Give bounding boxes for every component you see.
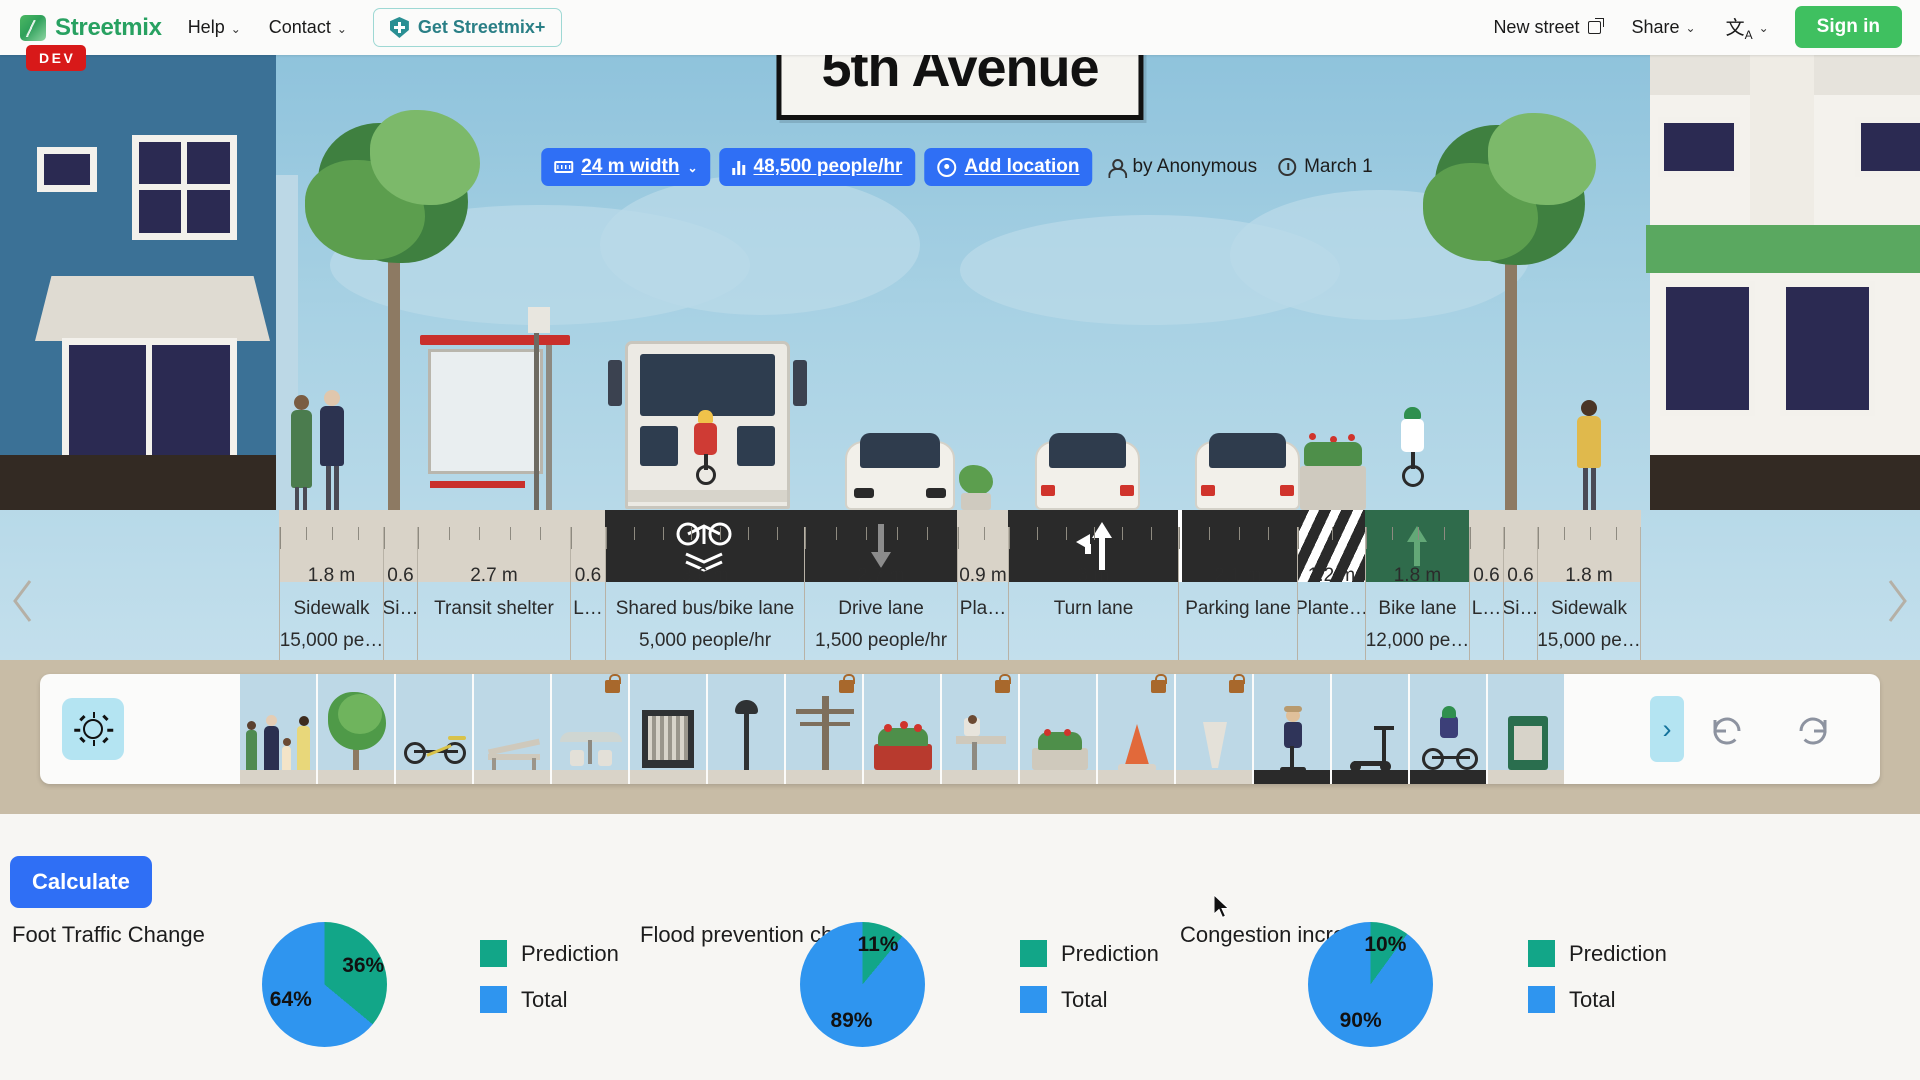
ruler-tick — [777, 527, 778, 540]
cyclist-helmet — [1404, 407, 1421, 419]
palette-swatch-bike-rack[interactable] — [396, 674, 474, 784]
palette-swatch-cyclist[interactable] — [1410, 674, 1488, 784]
legend-row: Prediction — [1528, 940, 1667, 967]
street-width-label: 24 m width — [581, 156, 679, 178]
palette-swatch-street-tree[interactable] — [318, 674, 396, 784]
pedestrian[interactable] — [288, 395, 314, 510]
cyclist[interactable] — [676, 410, 734, 510]
segment-capacity-label: 5,000 people/hr — [639, 630, 771, 652]
share-button[interactable]: Share ⌄ — [1617, 10, 1709, 45]
person-leg — [303, 487, 307, 510]
language-button[interactable]: 文A ⌄ — [1712, 6, 1783, 49]
swatch-ground — [396, 770, 472, 784]
redo-button[interactable] — [1770, 674, 1856, 784]
street-capacity-button[interactable]: 48,500 people/hr — [720, 148, 916, 186]
car-taillight — [1280, 485, 1294, 496]
segment-labels-row: 1.8 mSidewalk15,000 pe…0.6Si…2.7 mTransi… — [0, 527, 1920, 660]
segment-label[interactable]: 1.8 mSidewalk15,000 pe… — [1537, 527, 1641, 660]
legend-chip-total — [1528, 986, 1555, 1013]
swatch-ground — [1176, 770, 1252, 784]
ruler-tick — [1332, 527, 1333, 540]
segment-name-label: Pla… — [960, 598, 1006, 620]
lock-icon — [995, 680, 1010, 693]
bus-mirror — [608, 360, 622, 406]
segment-ruler-ticks — [958, 527, 1008, 549]
dev-badge: DEV — [26, 45, 86, 71]
sign-plate — [528, 307, 550, 333]
chevron-down-icon: ⌄ — [337, 23, 347, 35]
green-awning — [1646, 225, 1920, 273]
segment-label[interactable]: 0.9 mPla… — [957, 527, 1008, 660]
shelter-roof — [420, 335, 570, 345]
swatch-ground — [630, 770, 706, 784]
lock-icon — [839, 680, 854, 693]
segment-width-label: 1.8 m — [1565, 565, 1613, 587]
person-body — [291, 410, 312, 488]
segment-ruler-ticks — [1298, 527, 1365, 549]
car-windshield — [1049, 433, 1126, 468]
segment-name-label: Turn lane — [1054, 598, 1134, 620]
palette-swatch-list[interactable] — [240, 674, 1720, 784]
menu-contact[interactable]: Contact ⌄ — [255, 10, 361, 45]
ruler-tick — [805, 527, 806, 549]
lock-icon — [605, 680, 620, 693]
menu-contact-label: Contact — [269, 17, 331, 38]
sun-icon[interactable] — [62, 698, 124, 760]
segment-width-label: 0.6 — [1473, 565, 1499, 587]
street-date-label: March 1 — [1304, 156, 1373, 178]
segment-ruler-ticks — [1538, 527, 1640, 549]
segment-ruler-ticks — [805, 527, 957, 549]
planter-box — [1300, 466, 1366, 510]
window-shape — [1780, 281, 1875, 416]
segment-name-label: Shared bus/bike lane — [616, 598, 795, 620]
person-leg — [1591, 468, 1596, 512]
palette-swatch-utility-pole[interactable] — [786, 674, 864, 784]
swatch-ground — [1254, 770, 1330, 784]
car-light — [926, 488, 946, 498]
person-leg — [295, 487, 299, 510]
external-link-icon — [1588, 21, 1601, 34]
ruler-tick — [720, 527, 721, 540]
palette-swatch-bench[interactable] — [474, 674, 552, 784]
person-body — [320, 406, 344, 466]
planter-box — [961, 493, 991, 510]
bus-mirror — [793, 360, 807, 406]
get-streetmix-plus-button[interactable]: Get Streetmix+ — [373, 8, 563, 47]
clock-icon — [1278, 158, 1296, 176]
scroll-right-arrow[interactable] — [1884, 575, 1912, 627]
building-right-base — [1650, 455, 1920, 510]
swatch-ground — [552, 770, 628, 784]
scroll-left-arrow[interactable] — [8, 575, 36, 627]
ruler-tick — [1037, 527, 1038, 540]
swatch-ground — [318, 770, 394, 784]
segment-name-label: Sidewalk — [1551, 598, 1627, 620]
legend-row: Total — [1528, 986, 1667, 1013]
street-width-button[interactable]: 24 m width ⌄ — [541, 148, 710, 186]
ruler-tick — [306, 527, 307, 540]
bike-frame — [704, 454, 708, 470]
shield-plus-icon — [390, 17, 409, 38]
segment-ruler-ticks — [1179, 527, 1297, 549]
transit-shelter[interactable] — [420, 335, 570, 510]
segment-name-label: L… — [573, 598, 603, 620]
legend-label: Prediction — [1569, 941, 1667, 967]
segment-label[interactable]: 1.8 mBike lane12,000 pe… — [1365, 527, 1469, 660]
ruler-tick — [1298, 527, 1299, 549]
segment-width-label: 0.6 — [1507, 565, 1533, 587]
segment-width-label: 0.6 — [575, 565, 601, 587]
street-date: March 1 — [1272, 148, 1379, 186]
segment-name-label: L… — [1472, 598, 1502, 620]
ruler-tick — [1538, 527, 1539, 549]
car[interactable] — [1195, 427, 1300, 510]
pie-slice-label-prediction: 10% — [1364, 933, 1406, 957]
swatch-ground — [474, 770, 550, 784]
bus-window — [737, 426, 775, 466]
person-head — [294, 395, 309, 410]
undo-redo-group — [1684, 674, 1856, 784]
cyclist-body — [1401, 419, 1424, 452]
ruler-tick — [897, 527, 898, 540]
segment-ruler-ticks — [1009, 527, 1178, 549]
segment-label[interactable]: 0.6Si… — [383, 527, 417, 660]
palette-swatch-outdoor-dining[interactable] — [552, 674, 630, 784]
segment-ruler-ticks — [571, 527, 605, 549]
segment-name-label: Sidewalk — [293, 598, 369, 620]
undo-icon — [1709, 711, 1745, 747]
segment-width-label: 0.6 — [387, 565, 413, 587]
calculate-button[interactable]: Calculate — [10, 856, 152, 908]
palette-swatch-scooter[interactable] — [1332, 674, 1410, 784]
swatch-ground — [1410, 770, 1486, 784]
top-menu-bar: Streetmix Help ⌄ Contact ⌄ Get Streetmix… — [0, 0, 1920, 55]
ruler-tick — [280, 527, 281, 549]
ruler-tick — [866, 527, 867, 540]
segment-width-label: 2.1 m — [1214, 565, 1262, 587]
ruler-tick — [606, 527, 607, 549]
swatch-ground — [942, 770, 1018, 784]
building-left-base — [0, 455, 276, 510]
translate-icon: 文A — [1726, 13, 1753, 42]
window-shape — [37, 147, 97, 192]
car-windshield — [860, 433, 940, 468]
streetmix-logo-icon — [20, 15, 46, 41]
ruler-tick — [1590, 527, 1591, 540]
bus-window — [640, 426, 678, 466]
segment-width-label: 3.6 m — [681, 565, 729, 587]
segment-capacity-label: 15,000 pe… — [280, 630, 383, 652]
street-author-label: by Anonymous — [1132, 156, 1257, 178]
ruler-tick — [1094, 527, 1095, 540]
legend-label: Total — [1569, 987, 1615, 1013]
analytics-panel: Calculate Foot Traffic Change36%64%Predi… — [0, 810, 1920, 1080]
palette-swatch-flower-planter[interactable] — [864, 674, 942, 784]
ruler-tick — [748, 527, 749, 540]
street-meta-bar: 24 m width ⌄ 48,500 people/hr Add locati… — [541, 148, 1379, 186]
palette-swatch-scooter-rider[interactable] — [1254, 674, 1332, 784]
ruler-tick — [1066, 527, 1067, 540]
swatch-ground — [1020, 770, 1096, 784]
tree-trunk — [388, 245, 400, 510]
segment-capacity-label: 1,500 people/hr — [815, 630, 947, 652]
segment-width-label: 0.9 m — [959, 565, 1007, 587]
pedestrian[interactable] — [318, 390, 346, 510]
street-capacity-label: 48,500 people/hr — [754, 156, 903, 178]
chevron-down-icon: ⌄ — [231, 23, 241, 35]
window-shape — [1855, 117, 1920, 177]
ruler-tick — [958, 527, 959, 549]
menu-help[interactable]: Help ⌄ — [174, 10, 255, 45]
segment-width-label: 1.8 m — [1394, 565, 1442, 587]
segment-width-label: 2.7 m — [857, 565, 905, 587]
analytics-chart-panel: Congestion increase10%90%PredictionTotal — [0, 902, 1920, 1080]
planter-shrub — [959, 465, 993, 495]
segment-label[interactable]: 3 mTurn lane — [1008, 527, 1178, 660]
cyclist-head — [698, 410, 713, 423]
segment-width-label: 2.7 m — [470, 565, 518, 587]
ruler-tick — [1392, 527, 1393, 540]
flower — [1348, 434, 1355, 441]
ruler-tick — [1122, 527, 1123, 540]
tree-trunk — [1505, 250, 1517, 510]
chevron-right-icon — [1884, 575, 1912, 627]
ruler-tick — [1470, 527, 1471, 549]
palette-swatch-pedestrians[interactable] — [240, 674, 318, 784]
segment-name-label: Si… — [383, 598, 417, 620]
ruler-tick — [1009, 527, 1010, 549]
window-shape — [1658, 117, 1740, 177]
chevron-down-icon: ⌄ — [1686, 22, 1696, 34]
window-shape — [1660, 281, 1755, 416]
swatch-ground — [1488, 770, 1564, 784]
palette-swatch-planter-box[interactable] — [1020, 674, 1098, 784]
segment-ruler-ticks — [1366, 527, 1469, 549]
menu-help-label: Help — [188, 17, 225, 38]
chevron-down-icon: ⌄ — [1759, 22, 1769, 34]
street-author: by Anonymous — [1101, 148, 1263, 186]
segment-width-label: 1.8 m — [308, 565, 356, 587]
pie-chart[interactable]: 10%90% — [1308, 922, 1433, 1047]
pillar-shape — [1750, 55, 1814, 235]
segment-name-label: Si… — [1503, 598, 1537, 620]
segment-label[interactable]: 2.1 mParking lane — [1178, 527, 1297, 660]
planter-greens — [1304, 442, 1362, 466]
segment-label[interactable]: 0.6L… — [570, 527, 605, 660]
brand-name: Streetmix — [55, 14, 162, 42]
pedestrian[interactable] — [1575, 400, 1603, 512]
add-location-button[interactable]: Add location — [924, 148, 1092, 186]
brand-logo[interactable]: Streetmix — [14, 14, 174, 42]
segment-ruler-ticks — [384, 527, 417, 549]
sun-glyph — [83, 719, 103, 739]
swatch-ground — [1098, 770, 1174, 784]
segment-name-label: Bike lane — [1378, 598, 1456, 620]
ruler-tick — [1209, 527, 1210, 540]
segment-ruler-ticks — [418, 527, 570, 549]
ruler-tick — [1564, 527, 1565, 540]
ruler-tick — [1418, 527, 1419, 540]
ruler-tick — [1366, 527, 1367, 549]
ruler-tick — [449, 527, 450, 540]
person-head — [324, 390, 340, 406]
ruler-tick — [1179, 527, 1180, 549]
top-menu-right: New street Share ⌄ 文A ⌄ Sign in — [1479, 6, 1906, 49]
palette-swatch-traffic-cone[interactable] — [1098, 674, 1176, 784]
sign-in-button[interactable]: Sign in — [1795, 6, 1902, 48]
awning-shape — [35, 276, 270, 341]
building-right[interactable] — [1650, 55, 1920, 455]
person-head — [1581, 400, 1597, 416]
ruler-tick — [571, 527, 572, 549]
ruler-tick — [1151, 527, 1152, 540]
shelter-post — [546, 345, 552, 510]
ruler-icon — [554, 161, 573, 173]
ruler-tick — [663, 527, 664, 540]
redo-icon — [1795, 711, 1831, 747]
ruler-tick — [1616, 527, 1617, 540]
segment-name-label: Drive lane — [838, 598, 924, 620]
swatch-ground — [786, 770, 862, 784]
segment-name-label: Transit shelter — [434, 598, 554, 620]
person-leg — [334, 466, 339, 510]
palette-swatch-wayfinding[interactable] — [1488, 674, 1566, 784]
ruler-tick — [927, 527, 928, 540]
shelter-glass — [428, 349, 543, 474]
flower — [1309, 433, 1316, 440]
building-left[interactable] — [0, 55, 276, 455]
segment-ruler-ticks — [1504, 527, 1537, 549]
ruler-tick — [358, 527, 359, 540]
shelter-bench — [430, 481, 525, 488]
flower-planter[interactable] — [1300, 433, 1366, 510]
segment-ruler-ticks — [280, 527, 383, 549]
undo-button[interactable] — [1684, 674, 1770, 784]
segment-label[interactable]: 2.7 mTransit shelter — [417, 527, 570, 660]
person-leg — [1583, 468, 1588, 512]
ruler-tick — [510, 527, 511, 540]
ruler-tick — [1444, 527, 1445, 540]
planter-divider[interactable] — [955, 465, 997, 510]
bike-frame — [1411, 452, 1415, 469]
swatch-ground — [1332, 770, 1408, 784]
segment-name-label: Parking lane — [1185, 598, 1291, 620]
chevron-down-icon: ⌄ — [687, 162, 697, 174]
segment-ruler-ticks — [1470, 527, 1503, 549]
chart-legend: PredictionTotal — [1528, 940, 1667, 1032]
ruler-tick — [332, 527, 333, 540]
palette-swatch-newsstand[interactable] — [630, 674, 708, 784]
add-location-label: Add location — [964, 156, 1079, 178]
cyclist-body — [694, 423, 717, 455]
sign-post — [534, 310, 539, 510]
cloud-shape — [600, 175, 920, 315]
segment-label[interactable]: 0.6L… — [1469, 527, 1503, 660]
ruler-tick — [691, 527, 692, 540]
palette-next-button[interactable]: › — [1650, 696, 1684, 762]
ruler-tick — [418, 527, 419, 549]
person-icon — [1107, 159, 1124, 176]
car-light — [854, 488, 874, 498]
car-taillight — [1041, 485, 1055, 496]
get-streetmix-plus-label: Get Streetmix+ — [418, 17, 546, 38]
pie-slice-label-total: 90% — [1340, 1009, 1382, 1033]
window-mullion — [139, 184, 231, 190]
palette-swatch-bollard[interactable] — [1176, 674, 1254, 784]
segment-palette[interactable]: › — [40, 674, 1880, 784]
ruler-tick — [479, 527, 480, 540]
ruler-tick — [984, 527, 985, 540]
palette-swatch-bus-stop[interactable] — [942, 674, 1020, 784]
segment-label[interactable]: 2.7 mDrive lane1,500 people/hr — [804, 527, 957, 660]
legend-chip-prediction — [1528, 940, 1555, 967]
ruler-tick — [1239, 527, 1240, 540]
ruler-tick — [1504, 527, 1505, 549]
bike-lane-cyclist[interactable] — [1385, 407, 1439, 510]
person-body — [1577, 416, 1601, 468]
ruler-tick — [634, 527, 635, 540]
car[interactable] — [1035, 427, 1140, 510]
segment-capacity-label: 12,000 pe… — [1366, 630, 1469, 652]
new-street-label: New street — [1493, 17, 1579, 38]
ruler-tick — [384, 527, 385, 549]
ruler-tick — [836, 527, 837, 540]
map-pin-icon — [937, 158, 956, 177]
segment-ruler-ticks — [606, 527, 804, 549]
swatch-ground — [708, 770, 784, 784]
segment-name-label: Plante… — [1297, 598, 1365, 620]
person-leg — [326, 466, 331, 510]
segment-label[interactable]: 0.6Si… — [1503, 527, 1537, 660]
lock-icon — [1151, 680, 1166, 693]
palette-area: › — [0, 660, 1920, 810]
bar-chart-icon — [733, 160, 746, 175]
bus-window — [640, 354, 775, 416]
chevron-left-icon — [8, 575, 36, 627]
segment-width-label: 1.2 m — [1308, 565, 1356, 587]
swatch-ground — [864, 770, 940, 784]
ruler-tick — [1268, 527, 1269, 540]
segment-label[interactable]: 1.8 mSidewalk15,000 pe… — [279, 527, 383, 660]
lock-icon — [1229, 680, 1244, 693]
swatch-ground — [240, 770, 316, 784]
new-street-button[interactable]: New street — [1479, 10, 1615, 45]
car-windshield — [1209, 433, 1286, 468]
share-label: Share — [1631, 17, 1679, 38]
car[interactable] — [845, 427, 955, 510]
segment-label[interactable]: 1.2 mPlante… — [1297, 527, 1365, 660]
segment-label[interactable]: 3.6 mShared bus/bike lane5,000 people/hr — [605, 527, 804, 660]
window-mullion — [146, 345, 152, 466]
segment-capacity-label: 15,000 pe… — [1537, 630, 1641, 652]
palette-swatch-street-lamp[interactable] — [708, 674, 786, 784]
ruler-tick — [540, 527, 541, 540]
segment-width-label: 3 m — [1078, 565, 1110, 587]
streetmix-app: 5th Avenue 24 m width ⌄ 48,500 people/hr… — [0, 0, 1920, 1080]
car-taillight — [1120, 485, 1134, 496]
car-taillight — [1201, 485, 1215, 496]
